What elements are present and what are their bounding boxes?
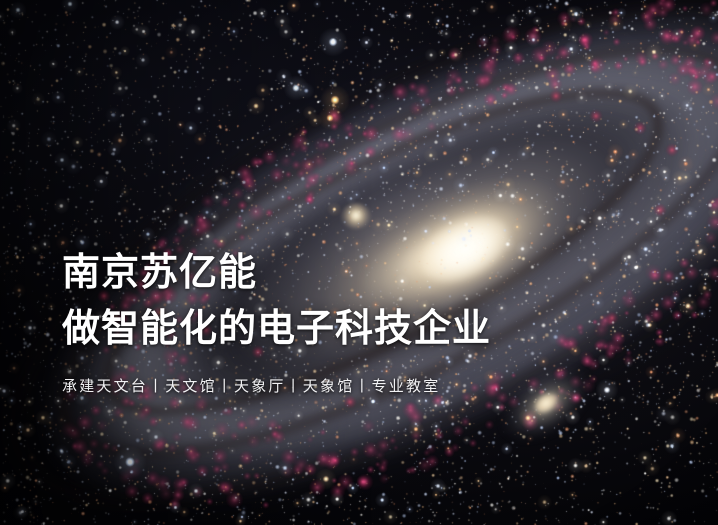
headline-line-2: 做智能化的电子科技企业 [62,304,662,354]
hero-banner: 南京苏亿能 做智能化的电子科技企业 承建天文台丨天文馆丨天象厅丨天象馆丨专业教室 [0,0,718,525]
tagline: 承建天文台丨天文馆丨天象厅丨天象馆丨专业教室 [62,376,662,398]
hero-copy-block: 南京苏亿能 做智能化的电子科技企业 承建天文台丨天文馆丨天象厅丨天象馆丨专业教室 [62,248,662,398]
headline-line-1: 南京苏亿能 [62,248,662,298]
